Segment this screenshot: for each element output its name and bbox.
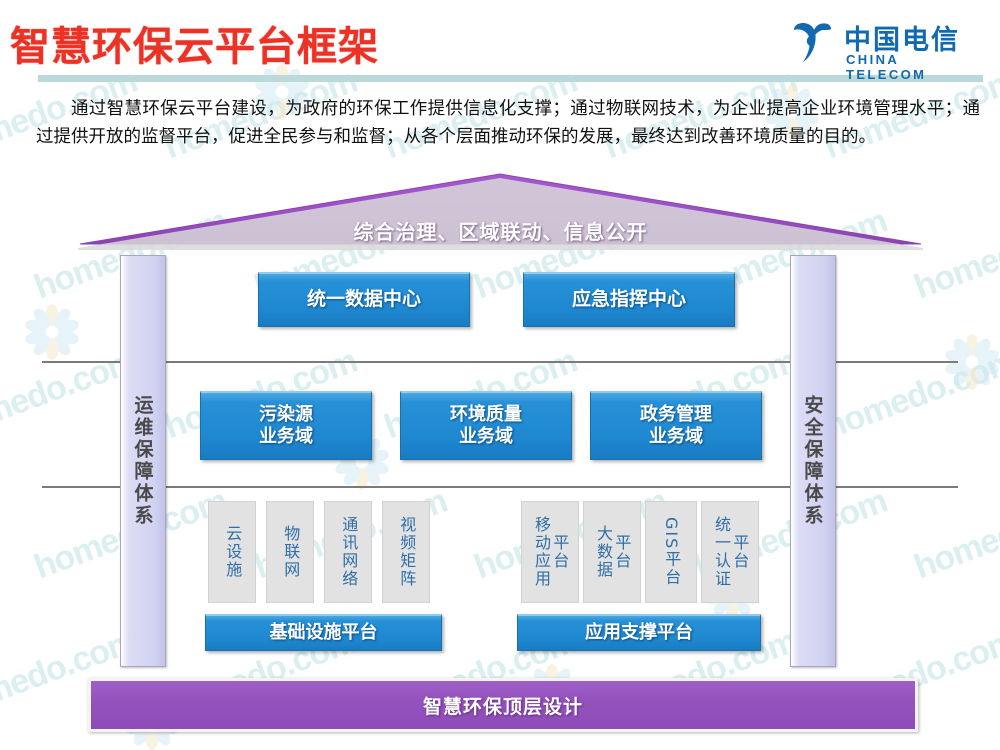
box-cloud-facility-label: 云设施 xyxy=(223,525,241,579)
base-bar-label: 智慧环保顶层设计 xyxy=(423,692,583,719)
box-government-affairs-domain[interactable]: 政务管理 业务域 xyxy=(590,391,762,460)
box-environment-quality-domain-line2: 业务域 xyxy=(459,426,513,449)
page-title: 智慧环保云平台框架 xyxy=(10,14,379,72)
logo-english-name: CHINA TELECOM xyxy=(846,52,980,82)
header: 智慧环保云平台框架 中国电信 CHINA TELECOM xyxy=(0,0,1000,90)
box-gis-platform-col1: GIS平台 xyxy=(662,517,680,586)
box-infrastructure-platform[interactable]: 基础设施平台 xyxy=(205,614,442,651)
box-video-matrix-label: 视频矩阵 xyxy=(397,516,415,588)
box-unified-auth-platform-col2: 平台 xyxy=(730,534,748,570)
box-video-matrix[interactable]: 视频矩阵 xyxy=(382,501,430,603)
pillar-ops-guarantee: 运维保障体系 xyxy=(120,255,166,667)
box-application-support-platform-label: 应用支撑平台 xyxy=(585,622,693,645)
box-pollution-source-domain[interactable]: 污染源 业务域 xyxy=(200,391,372,460)
box-cloud-facility[interactable]: 云设施 xyxy=(208,501,256,603)
box-communication-network[interactable]: 通讯网络 xyxy=(324,501,372,603)
box-government-affairs-domain-line1: 政务管理 xyxy=(640,404,712,427)
china-telecom-swirl-icon xyxy=(790,20,836,64)
roof-triangle: 综合治理、区域联动、信息公开 xyxy=(78,172,923,250)
box-iot[interactable]: 物联网 xyxy=(266,501,314,603)
box-mobile-app-platform-col2: 平台 xyxy=(550,534,568,570)
box-unified-data-center-label: 统一数据中心 xyxy=(307,288,421,312)
pillar-ops-guarantee-label: 运维保障体系 xyxy=(130,395,157,527)
box-infrastructure-platform-label: 基础设施平台 xyxy=(270,622,378,645)
box-big-data-platform[interactable]: 大数据 平台 xyxy=(583,501,641,603)
box-big-data-platform-col1: 大数据 xyxy=(594,525,612,579)
box-emergency-command-center-label: 应急指挥中心 xyxy=(572,288,686,312)
pillar-security-guarantee-label: 安全保障体系 xyxy=(800,395,827,527)
box-emergency-command-center[interactable]: 应急指挥中心 xyxy=(523,272,735,327)
pillar-security-guarantee: 安全保障体系 xyxy=(790,255,836,667)
box-mobile-app-platform-col1: 移动应用 xyxy=(532,516,550,588)
box-government-affairs-domain-line2: 业务域 xyxy=(649,426,703,449)
base-bar-top-level-design[interactable]: 智慧环保顶层设计 xyxy=(88,678,918,732)
box-pollution-source-domain-line1: 污染源 xyxy=(259,404,313,427)
china-telecom-logo: 中国电信 CHINA TELECOM xyxy=(790,18,980,70)
box-mobile-app-platform[interactable]: 移动应用 平台 xyxy=(521,501,579,603)
box-pollution-source-domain-line2: 业务域 xyxy=(259,426,313,449)
box-big-data-platform-col2: 平台 xyxy=(612,534,630,570)
roof-label: 综合治理、区域联动、信息公开 xyxy=(78,216,923,245)
box-environment-quality-domain[interactable]: 环境质量 业务域 xyxy=(400,391,572,460)
box-unified-auth-platform-col1: 统一认证 xyxy=(712,516,730,588)
box-gis-platform[interactable]: GIS平台 xyxy=(645,501,697,603)
box-unified-data-center[interactable]: 统一数据中心 xyxy=(258,272,470,327)
intro-paragraph: 通过智慧环保云平台建设，为政府的环保工作提供信息化支撑；通过物联网技术，为企业提… xyxy=(36,95,980,151)
box-application-support-platform[interactable]: 应用支撑平台 xyxy=(517,614,761,651)
box-iot-label: 物联网 xyxy=(281,525,299,579)
title-divider-rule xyxy=(38,75,983,82)
box-communication-network-label: 通讯网络 xyxy=(339,516,357,588)
box-unified-auth-platform[interactable]: 统一认证 平台 xyxy=(701,501,759,603)
box-environment-quality-domain-line1: 环境质量 xyxy=(450,404,522,427)
